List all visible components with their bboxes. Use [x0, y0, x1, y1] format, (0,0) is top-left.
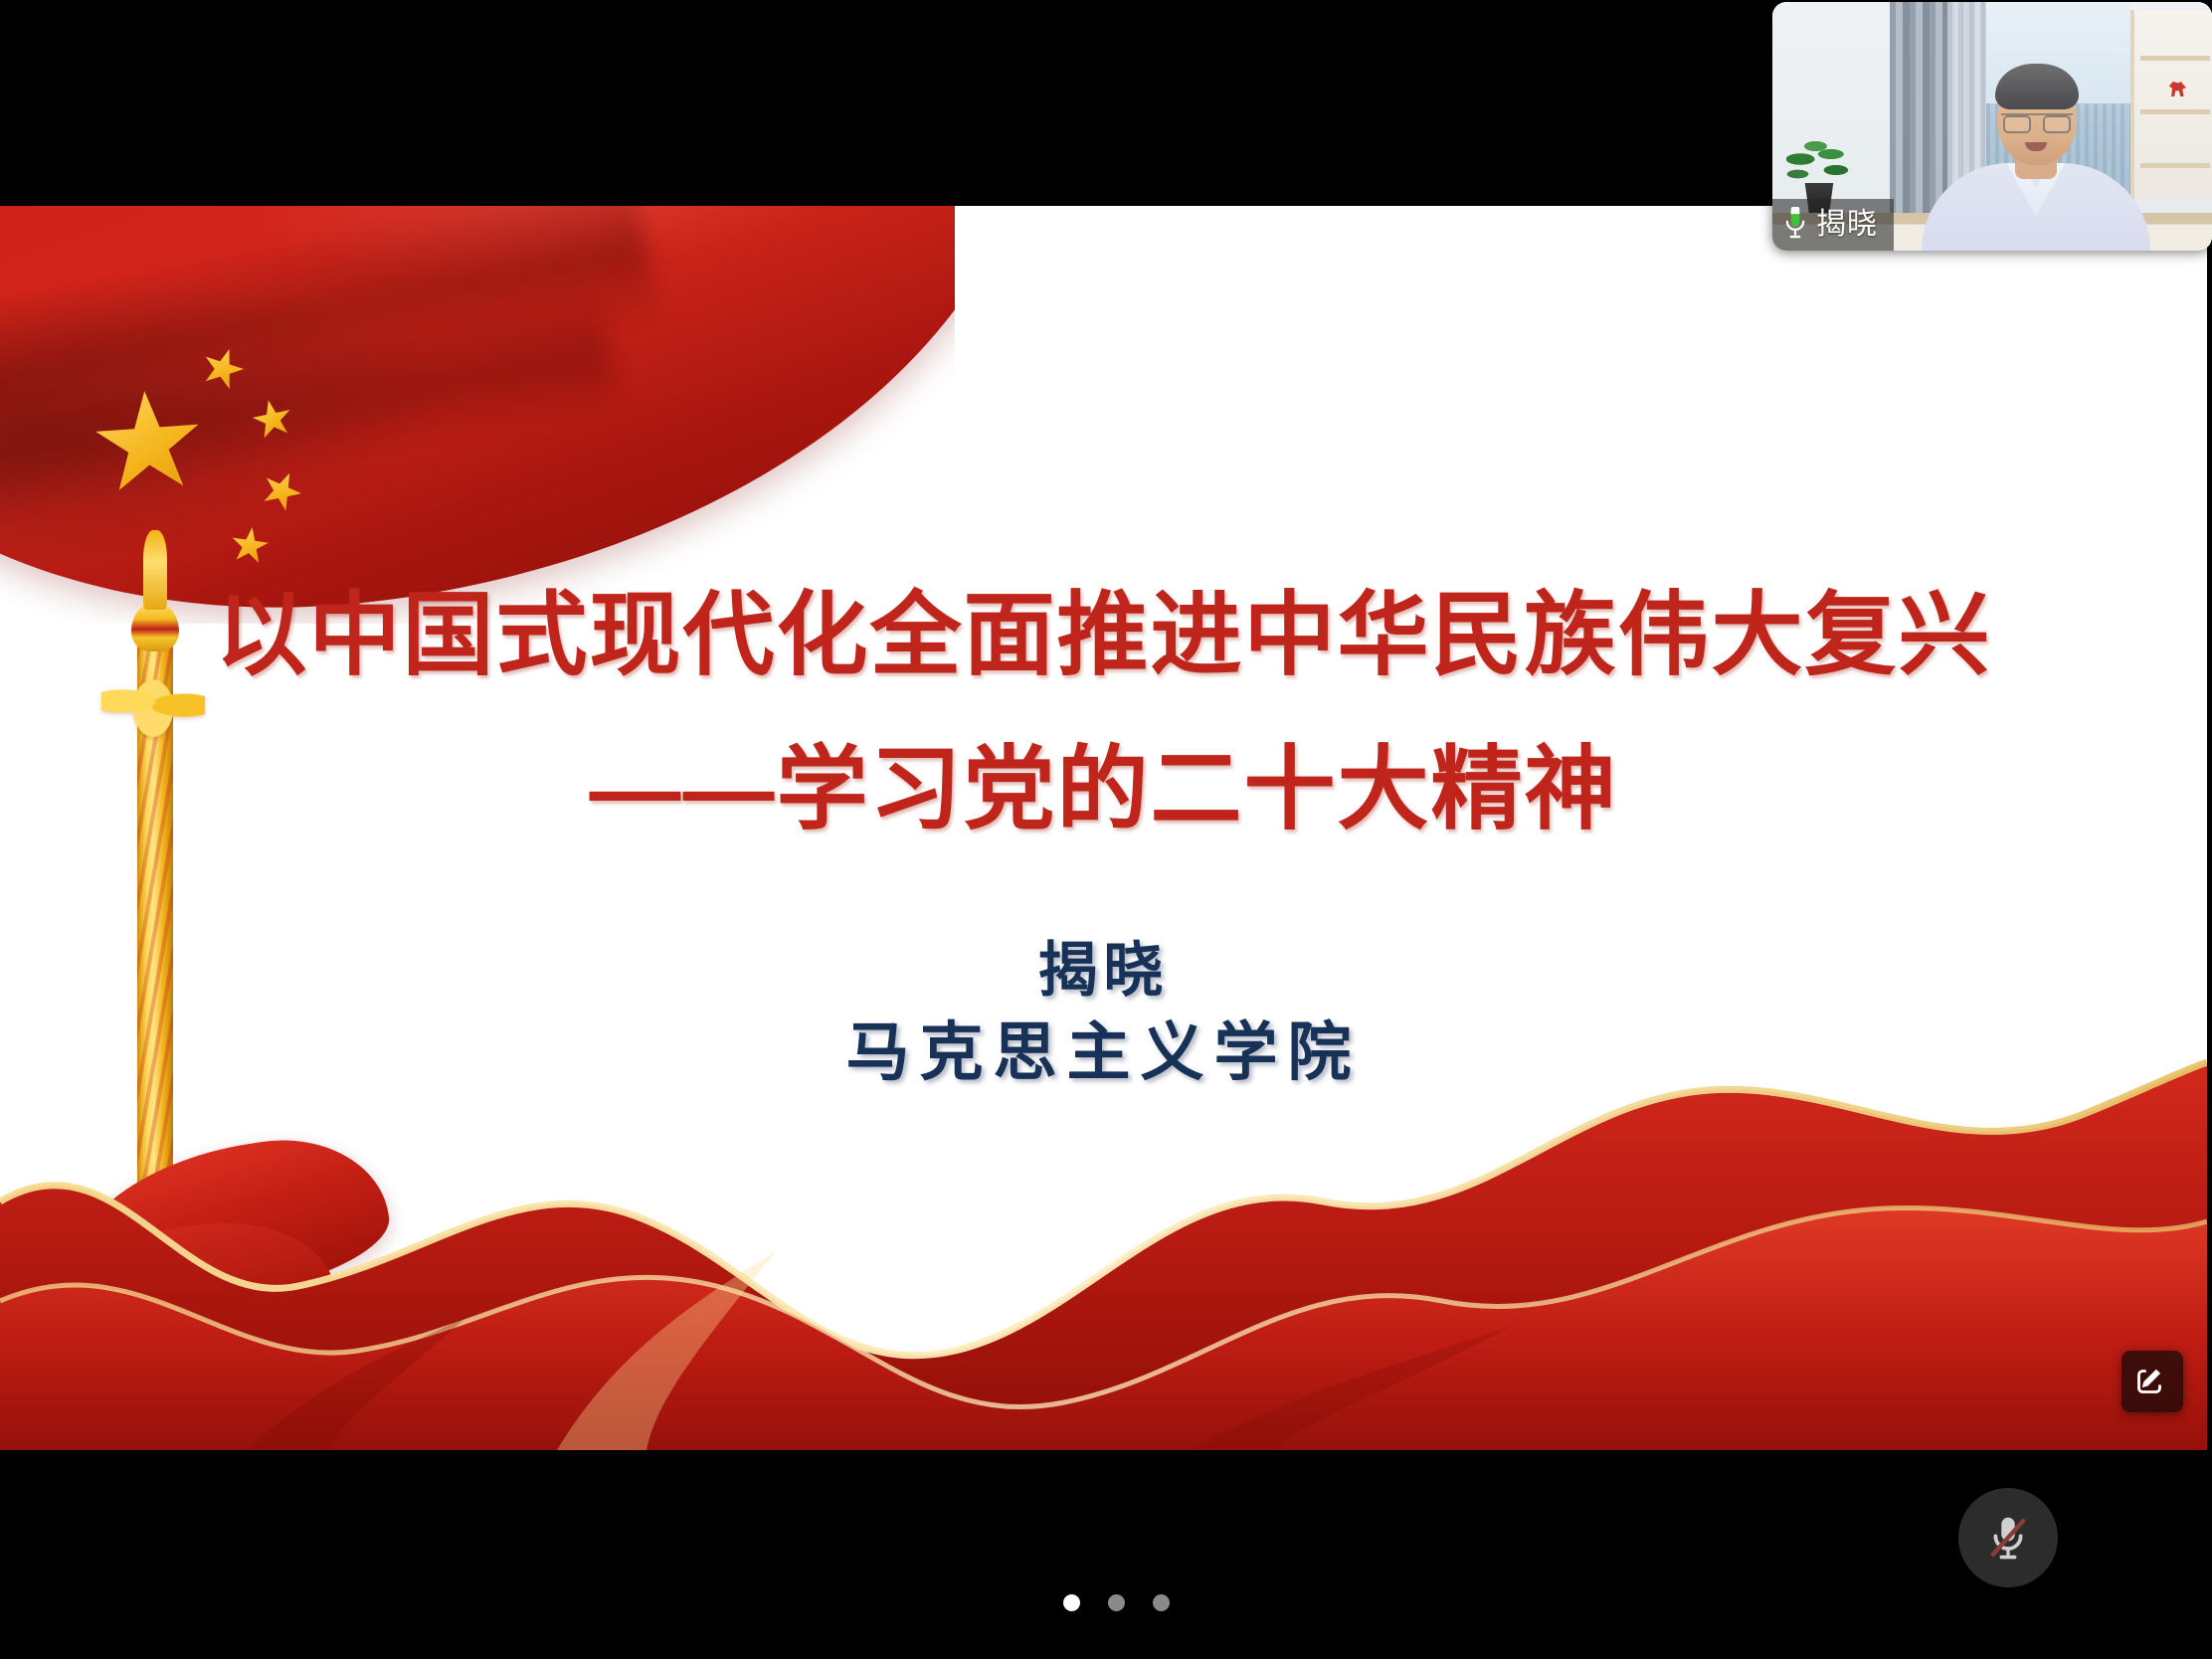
- flag-star-small-2: [249, 396, 295, 443]
- page-dot-2[interactable]: [1108, 1594, 1125, 1611]
- annotate-pen-icon: [2134, 1364, 2170, 1399]
- shelf-board-2: [2140, 109, 2210, 114]
- page-dot-1[interactable]: [1063, 1594, 1080, 1611]
- eyeglass-lens-right: [2043, 115, 2071, 133]
- annotate-button[interactable]: [2121, 1351, 2183, 1412]
- flag-star-small-3: [256, 465, 308, 518]
- china-flag-decoration: [0, 206, 955, 624]
- presentation-slide[interactable]: 以中国式现代化全面推进中华民族伟大复兴 ——学习党的二十大精神 揭晓 马克思主义…: [0, 206, 2207, 1450]
- red-ribbon-lower: [31, 1213, 339, 1371]
- slide-title: 以中国式现代化全面推进中华民族伟大复兴: [0, 582, 2207, 690]
- participant-name-label: 揭晓: [1816, 210, 1878, 240]
- eyeglass-lens-left: [2003, 115, 2031, 133]
- microphone-muted-icon: [1981, 1511, 2035, 1565]
- presenter-organization: 马克思主义学院: [0, 1002, 2207, 1093]
- slide-subtitle: ——学习党的二十大精神: [0, 715, 2207, 847]
- screen-share-view: 以中国式现代化全面推进中华民族伟大复兴 ——学习党的二十大精神 揭晓 马克思主义…: [0, 0, 2212, 1659]
- flag-star-large: [91, 387, 205, 501]
- page-indicator[interactable]: [1063, 1594, 1170, 1611]
- eyeglasses: [2001, 113, 2073, 133]
- participant-person: [1922, 77, 2150, 251]
- participant-video-tile[interactable]: 揭晓: [1772, 2, 2212, 251]
- flag-body: [0, 206, 955, 624]
- participant-name-badge: 揭晓: [1772, 199, 1894, 251]
- flag-fold-secondary: [0, 293, 621, 553]
- shelf-board-1: [2140, 56, 2210, 61]
- flag-star-small-1: [197, 343, 250, 396]
- mute-toggle-button[interactable]: [1958, 1488, 2058, 1587]
- flag-star-small-4: [229, 525, 272, 568]
- shelf-board-3: [2140, 163, 2210, 168]
- page-dot-3[interactable]: [1153, 1594, 1170, 1611]
- microphone-active-icon: [1782, 207, 1808, 243]
- flag-fold: [0, 206, 664, 514]
- presenter-name: 揭晓: [0, 922, 2207, 1009]
- plant-leaves: [1786, 139, 1850, 189]
